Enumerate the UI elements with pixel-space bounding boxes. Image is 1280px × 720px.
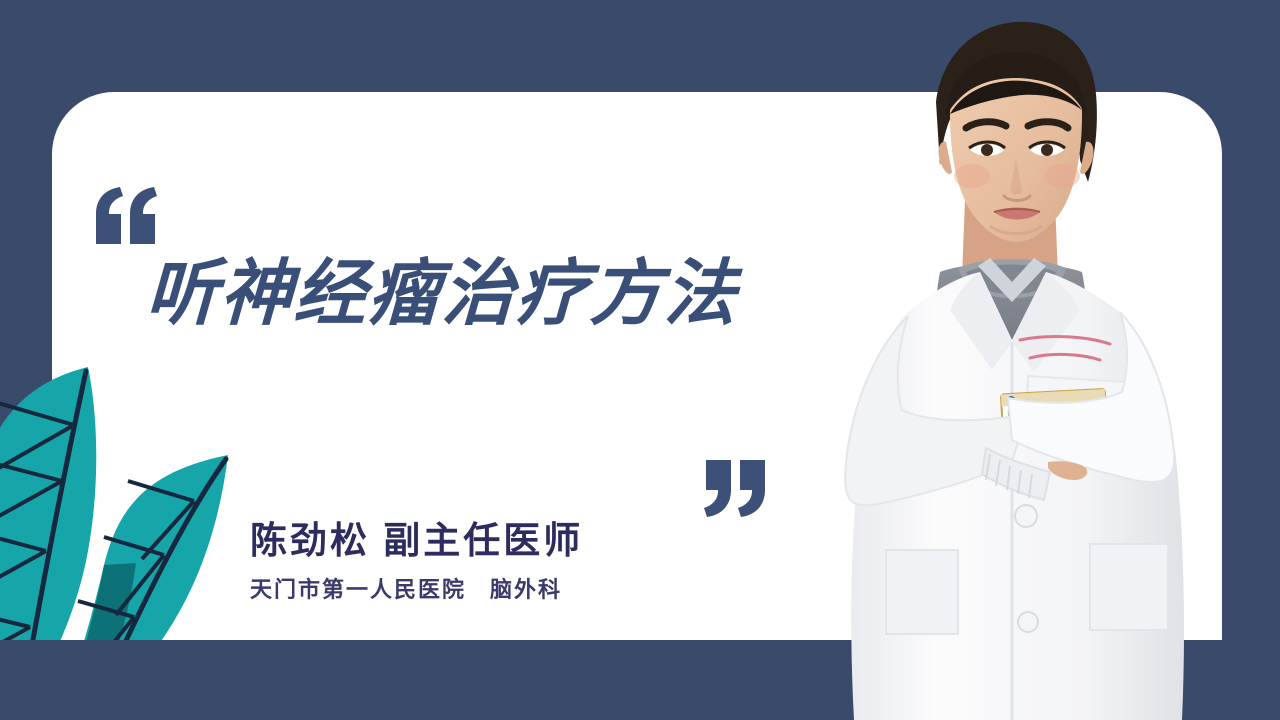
page-title: 听神经瘤治疗方法 [145, 252, 848, 337]
quote-close-icon [700, 458, 770, 518]
doctor-info-block: 陈劲松 副主任医师 天门市第一人民医院 脑外科 [250, 518, 810, 604]
quote-open-icon [92, 186, 162, 246]
content-card: 听神经瘤治疗方法 陈劲松 副主任医师 天门市第一人民医院 脑外科 [52, 92, 1222, 640]
title-card-canvas: 听神经瘤治疗方法 陈劲松 副主任医师 天门市第一人民医院 脑外科 [0, 0, 1280, 720]
doctor-affiliation: 天门市第一人民医院 脑外科 [250, 577, 810, 603]
bottom-navy-band [0, 640, 1280, 720]
doctor-name-and-rank: 陈劲松 副主任医师 [250, 518, 810, 564]
